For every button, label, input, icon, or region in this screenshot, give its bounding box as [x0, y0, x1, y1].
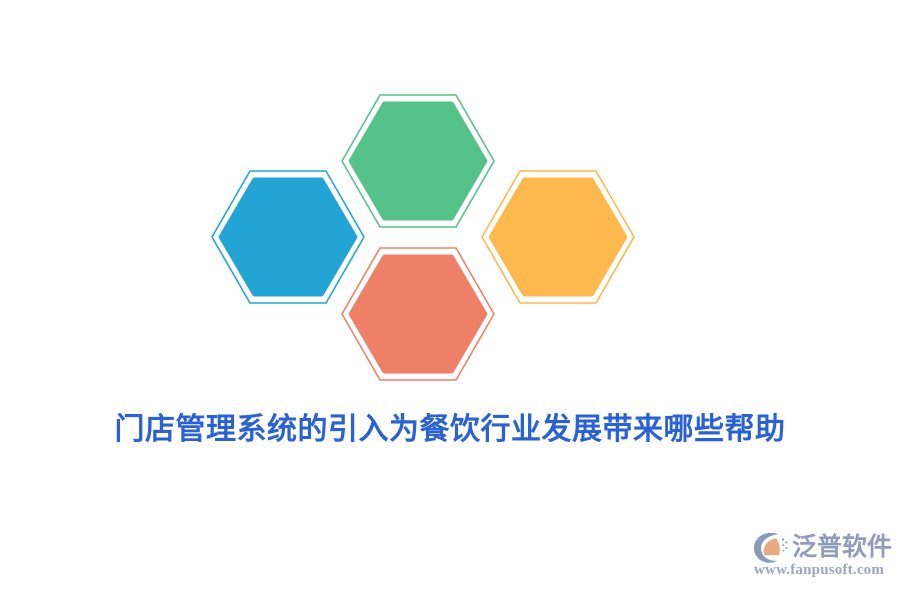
page-title-text: 门店管理系统的引入为餐饮行业发展带来哪些帮助: [115, 408, 786, 452]
salmon-hexagon-fill: [351, 257, 485, 371]
hexagon-cluster-graphic: [0, 0, 900, 420]
green-hexagon: [342, 95, 494, 227]
page-root: 门店管理系统的引入为餐饮行业发展带来哪些帮助 泛普软件 www.fanpusof…: [0, 0, 900, 600]
green-hexagon-fill: [351, 104, 485, 218]
orange-hexagon-fill: [491, 180, 625, 294]
brand-watermark: 泛普软件 www.fanpusoft.com: [752, 528, 888, 590]
brand-url-text: www.fanpusoft.com: [754, 561, 884, 579]
orange-hexagon: [482, 171, 634, 303]
fanpu-logo-mark-icon: [752, 530, 788, 564]
brand-name-text: 泛普软件: [792, 533, 892, 561]
page-title: 门店管理系统的引入为餐饮行业发展带来哪些帮助: [0, 408, 900, 452]
blue-hexagon: [212, 171, 364, 303]
salmon-hexagon: [342, 248, 494, 380]
blue-hexagon-fill: [221, 180, 355, 294]
hexagon-cluster-svg: [0, 0, 900, 420]
